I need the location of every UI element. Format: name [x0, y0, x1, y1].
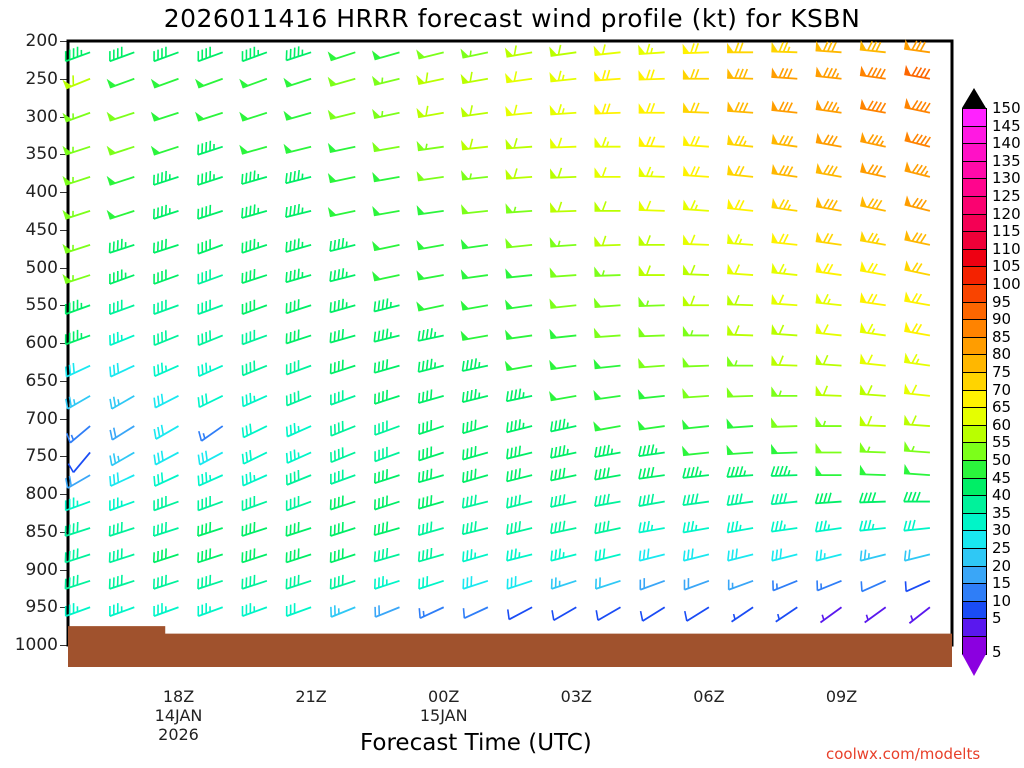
wind-barb [594, 298, 621, 307]
wind-barb [639, 549, 664, 561]
colorbar-tick-label: 65 [992, 398, 1011, 416]
wind-barb [860, 322, 886, 335]
wind-barb [198, 239, 222, 253]
wind-barb [904, 322, 930, 336]
wind-barb [154, 451, 178, 465]
wind-barb [110, 363, 134, 377]
wind-barb [330, 268, 355, 281]
wind-barb [727, 356, 753, 366]
x-axis-title: Forecast Time (UTC) [360, 730, 592, 756]
wind-barb [107, 210, 135, 219]
wind-barb [727, 521, 753, 532]
wind-barb [154, 270, 178, 284]
wind-barb [151, 112, 179, 121]
colorbar-min-arrow [962, 654, 986, 676]
wind-barb [154, 425, 178, 439]
wind-barb [198, 451, 222, 465]
wind-barb [66, 497, 90, 510]
wind-barb [771, 294, 797, 305]
wind-barb [286, 575, 311, 589]
wind-barb [419, 495, 444, 509]
wind-barb [287, 423, 311, 437]
wind-barb [242, 361, 266, 376]
wind-barb [639, 103, 665, 113]
wind-barb [375, 359, 400, 373]
wind-barb [374, 298, 399, 311]
wind-barb [461, 105, 488, 116]
wind-barb [198, 330, 222, 345]
wind-barb [330, 329, 355, 343]
wind-barb [771, 42, 797, 52]
wind-barb [816, 67, 842, 79]
wind-barb [284, 144, 312, 153]
wind-barb [684, 578, 708, 590]
wind-barb [638, 358, 665, 367]
wind-barb [638, 44, 665, 54]
wind-barb [107, 176, 135, 185]
wind-barb [330, 299, 355, 313]
wind-barb [816, 293, 842, 305]
wind-barb [331, 447, 355, 462]
colorbar-swatch [962, 354, 987, 373]
wind-barb [771, 67, 797, 78]
wind-barb [594, 266, 620, 275]
wind-barb [198, 205, 223, 219]
wind-barb [638, 389, 665, 398]
wind-barb [507, 495, 532, 508]
wind-barb [594, 104, 620, 114]
wind-barb [461, 204, 488, 213]
wind-barb [639, 444, 665, 456]
wind-barb [639, 467, 665, 479]
wind-barb [505, 45, 532, 56]
wind-barb [198, 47, 222, 61]
wind-barb [727, 418, 754, 427]
wind-barb [287, 470, 311, 485]
wind-barb [283, 78, 311, 87]
wind-barb [67, 426, 90, 443]
colorbar-tick-label: 140 [992, 134, 1021, 152]
wind-barb [154, 47, 178, 61]
wind-barb [639, 200, 665, 210]
wind-barb [551, 549, 576, 561]
colorbar-swatch [962, 425, 987, 444]
wind-barb [328, 207, 355, 216]
wind-barb [772, 521, 798, 532]
wind-barb [505, 268, 532, 277]
wind-barb [507, 389, 532, 402]
wind-barb [772, 549, 797, 561]
wind-barb [419, 607, 443, 618]
wind-barb [729, 580, 753, 590]
wind-barb [549, 329, 576, 338]
wind-barb [594, 70, 621, 81]
wind-barb [151, 79, 179, 88]
wind-barb [372, 241, 399, 250]
wind-barb [461, 331, 488, 340]
wind-barb [463, 420, 488, 434]
colorbar-tick-label: 90 [992, 310, 1011, 328]
wind-barb [816, 466, 842, 476]
wind-barb [286, 269, 311, 283]
wind-barb [683, 357, 709, 366]
wind-barb [242, 204, 267, 218]
wind-barb [375, 390, 400, 404]
wind-barb [727, 199, 753, 211]
wind-barb [594, 328, 621, 337]
wind-barb [816, 41, 842, 52]
wind-barb [776, 607, 798, 622]
colorbar-tick-label: 60 [992, 416, 1011, 434]
wind-barb [639, 166, 665, 176]
colorbar-swatch [962, 583, 987, 602]
wind-barb [375, 421, 399, 435]
wind-barb [683, 166, 709, 177]
wind-barb [375, 522, 400, 536]
wind-barb [904, 415, 930, 426]
wind-barb [242, 393, 266, 407]
wind-barb [772, 164, 798, 177]
wind-barb [551, 445, 576, 458]
colorbar-swatch [962, 442, 987, 461]
wind-barb [595, 167, 621, 177]
wind-barb [506, 203, 533, 212]
wind-barb [551, 521, 576, 534]
wind-barb [551, 494, 576, 507]
wind-barb [904, 291, 930, 305]
wind-barb [904, 65, 930, 79]
wind-barb [286, 238, 311, 252]
wind-barb [460, 48, 487, 57]
colorbar-tick-label: 50 [992, 451, 1011, 469]
wind-barb [372, 76, 400, 85]
colorbar-swatch [962, 319, 987, 338]
wind-barb [860, 261, 886, 275]
wind-barb [461, 239, 488, 248]
wind-barb [243, 450, 267, 464]
wind-barb [507, 419, 532, 432]
wind-barb [727, 101, 753, 112]
wind-barb [860, 66, 886, 79]
colorbar-swatch [962, 126, 987, 145]
wind-barb [904, 441, 930, 452]
wind-barb [816, 493, 842, 504]
wind-barb [638, 327, 664, 336]
wind-barb [816, 197, 842, 211]
wind-barb [331, 470, 355, 484]
wind-barb [198, 575, 223, 589]
wind-barb [461, 300, 488, 309]
wind-barb [727, 264, 753, 275]
wind-barb [816, 232, 842, 245]
wind-barb [154, 239, 179, 253]
wind-barb [549, 299, 576, 308]
wind-barb [154, 394, 178, 408]
colorbar-max-arrow [962, 88, 986, 108]
wind-barb [860, 492, 886, 502]
colorbar-tick-label: 145 [992, 117, 1021, 135]
wind-barb [417, 205, 444, 214]
wind-barb [683, 234, 709, 244]
wind-barb [904, 353, 930, 366]
wind-barb [860, 196, 885, 211]
wind-barb [860, 416, 886, 426]
wind-barb [732, 607, 754, 622]
wind-barb [375, 576, 400, 589]
colorbar-tick-label: 35 [992, 504, 1011, 522]
wind-barb [549, 45, 576, 56]
wind-barb [328, 173, 355, 182]
wind-barb [242, 522, 267, 536]
colorbar-swatch [962, 266, 987, 285]
colorbar-swatch [962, 548, 987, 567]
wind-barb [727, 295, 753, 305]
colorbar-swatch [962, 214, 987, 233]
colorbar-swatch [962, 372, 987, 391]
wind-barb [593, 390, 620, 399]
wind-barb [110, 270, 134, 284]
wind-barb [195, 79, 223, 88]
wind-barb [639, 136, 665, 146]
wind-barb [463, 495, 488, 508]
wind-barb [550, 168, 576, 178]
wind-barb [154, 363, 178, 377]
wind-barb [199, 426, 223, 441]
wind-barb [242, 170, 267, 184]
wind-barb [242, 47, 266, 61]
wind-barb [331, 360, 356, 374]
wind-barb [243, 424, 267, 438]
wind-barb [641, 607, 665, 621]
wind-barb [287, 391, 311, 406]
wind-barb [820, 607, 841, 622]
colorbar-tick-label: 125 [992, 187, 1021, 205]
wind-barb [727, 165, 753, 177]
colorbar-tick-label: 95 [992, 293, 1011, 311]
wind-barb [110, 300, 134, 314]
wind-barb [419, 576, 444, 589]
wind-barb [771, 493, 797, 504]
colorbar-swatch [962, 161, 987, 180]
wind-barb [638, 297, 664, 306]
wind-barb [772, 198, 798, 211]
wind-barb [727, 445, 754, 454]
wind-barb [552, 577, 577, 588]
wind-barb [419, 420, 444, 434]
wind-barb [727, 387, 753, 396]
wind-barb [727, 325, 753, 335]
wind-barb [328, 143, 355, 152]
wind-barb [771, 101, 797, 113]
wind-barb [107, 79, 135, 88]
wind-barb [595, 445, 621, 457]
colorbar-swatch [962, 196, 987, 215]
wind-barb [771, 355, 797, 365]
wind-barb [771, 386, 797, 396]
wind-barb [684, 549, 709, 561]
wind-barb [375, 469, 400, 483]
wind-barb [549, 71, 576, 82]
wind-barb [463, 446, 488, 460]
wind-barb [550, 267, 577, 276]
wind-barb [816, 385, 842, 395]
wind-barb [771, 233, 797, 245]
wind-barb [682, 388, 709, 397]
wind-barb [154, 472, 178, 486]
wind-barb [287, 450, 311, 464]
wind-barb [909, 607, 929, 623]
wind-barb [331, 605, 355, 617]
wind-barb [416, 49, 444, 58]
wind-barb [372, 206, 399, 215]
wind-barb [110, 472, 134, 486]
wind-barb [287, 603, 311, 616]
wind-barb [905, 131, 931, 147]
wind-barb [417, 141, 444, 150]
wind-barb [860, 520, 886, 531]
wind-barb [505, 105, 532, 116]
wind-barb [418, 328, 443, 341]
wind-barb [416, 72, 443, 84]
wind-barb [242, 330, 266, 344]
wind-barb [638, 70, 664, 80]
wind-barb [595, 201, 621, 211]
wind-barb [461, 269, 488, 278]
wind-barb [905, 195, 930, 211]
wind-barb [154, 496, 178, 510]
wind-barb [771, 263, 797, 275]
wind-barb [239, 79, 267, 88]
wind-barb [110, 575, 135, 589]
wind-barb [595, 467, 621, 479]
wind-barb [683, 521, 709, 532]
wind-barb [66, 603, 90, 616]
colorbar-tick-label: 25 [992, 539, 1011, 557]
wind-barb [860, 162, 885, 177]
wind-barb [683, 265, 709, 275]
wind-barb [463, 469, 488, 483]
wind-barb [904, 260, 929, 275]
wind-barb [683, 326, 709, 336]
wind-barb [904, 464, 930, 475]
colorbar-tick-label: 45 [992, 469, 1011, 487]
colorbar-swatch [962, 249, 987, 268]
wind-barb [596, 607, 620, 620]
colorbar-tick-label: 100 [992, 275, 1021, 293]
wind-barb [374, 329, 399, 342]
wind-barb [198, 603, 222, 616]
wind-barb [860, 99, 886, 113]
wind-barb [328, 110, 356, 119]
wind-barb [551, 419, 576, 432]
wind-barb [816, 443, 842, 453]
wind-barb [550, 237, 577, 246]
wind-barb [816, 163, 842, 177]
wind-barb [242, 496, 266, 510]
colorbar-swatch [962, 231, 987, 250]
wind-barb [683, 296, 709, 306]
wind-barb [904, 230, 929, 245]
wind-barb [198, 171, 223, 185]
wind-barb [904, 492, 930, 502]
wind-barb [331, 575, 356, 589]
colorbar-legend: 1501451401351301251201151101051009590858… [962, 88, 1024, 648]
wind-barb [198, 522, 223, 536]
wind-barb [372, 50, 400, 59]
wind-barb [595, 521, 620, 534]
wind-barb [865, 607, 886, 622]
wind-barb [683, 494, 709, 506]
colorbar-tick-label: 5 [992, 643, 1002, 661]
wind-barb [594, 359, 621, 368]
wind-barb [727, 68, 753, 78]
colorbar-tick-label: 110 [992, 240, 1021, 258]
wind-barb [372, 271, 399, 280]
wind-barb [372, 142, 399, 151]
wind-barb [419, 548, 444, 562]
wind-barb [639, 494, 665, 506]
wind-barb [904, 384, 930, 396]
wind-barb [239, 112, 267, 121]
colorbar-swatch [962, 108, 987, 127]
wind-barb [331, 496, 356, 510]
wind-barb [375, 605, 399, 617]
wind-barb [507, 576, 532, 589]
wind-barb [905, 161, 930, 177]
wind-barb [110, 522, 135, 536]
wind-barb [154, 330, 178, 345]
wind-barb [286, 548, 311, 562]
wind-barb [198, 300, 222, 314]
colorbar-swatch [962, 460, 987, 479]
wind-barb [505, 299, 532, 308]
wind-barb [505, 71, 532, 82]
wind-barb [595, 494, 621, 506]
wind-barb [286, 299, 311, 313]
wind-barb [154, 548, 179, 562]
wind-barb [198, 393, 222, 407]
wind-barb [416, 240, 443, 249]
colorbar-swatch [962, 566, 987, 585]
wind-barb [463, 549, 488, 561]
wind-barb [463, 521, 488, 534]
wind-barb [198, 548, 223, 562]
wind-barb [375, 447, 399, 461]
wind-barb [905, 581, 929, 592]
wind-barb [110, 332, 134, 345]
wind-barb [816, 133, 842, 147]
wind-barb [816, 100, 842, 113]
wind-barb [419, 446, 444, 460]
wind-barb [638, 420, 665, 429]
wind-barb [771, 466, 797, 476]
wind-barb [375, 496, 400, 510]
colorbar-swatch [962, 495, 987, 514]
colorbar-swatch [962, 513, 987, 532]
wind-barb [419, 469, 444, 483]
wind-barb [772, 134, 798, 147]
wind-barb [505, 238, 532, 247]
wind-barb [549, 360, 576, 369]
watermark: coolwx.com/modelts [826, 745, 980, 763]
wind-barb [154, 300, 178, 314]
wind-barb [198, 496, 222, 510]
colorbar-tick-label: 130 [992, 169, 1021, 187]
wind-barb [198, 472, 222, 486]
wind-barb [242, 575, 267, 589]
wind-barb [683, 467, 709, 478]
wind-barb [505, 330, 532, 339]
